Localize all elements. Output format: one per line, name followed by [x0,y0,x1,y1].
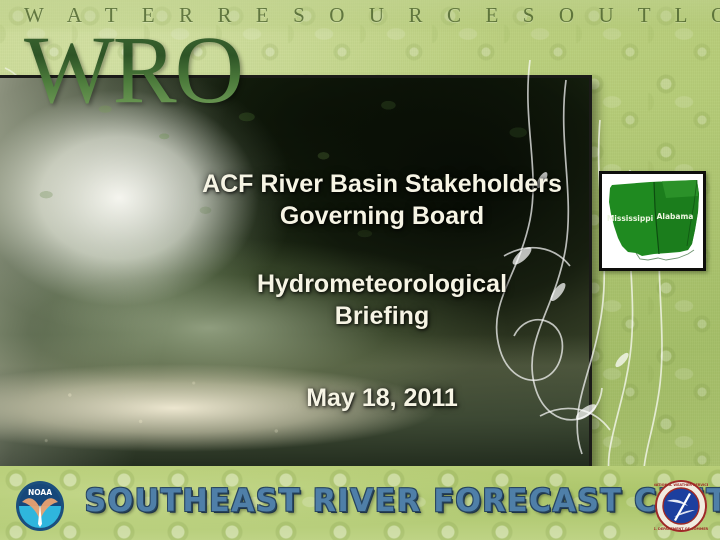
national-weather-service-logo-icon: NATIONAL WEATHER SERVICE U.S. DEPARTMENT… [654,479,708,533]
title-line-1: ACF River Basin Stakeholders [186,168,578,200]
southeast-states-map-thumbnail: Mississippi Alabama [599,171,706,271]
noaa-logo-icon: NOAA [14,480,66,532]
wro-wordmark-logo: WRO [24,22,242,118]
map-label-alabama: Alabama [657,212,694,221]
title-line-3: Hydrometeorological [186,268,578,300]
mississippi-alabama-map-icon: Mississippi Alabama [602,174,703,268]
title-line-4: Briefing [186,300,578,332]
nws-ring-text-top: NATIONAL WEATHER SERVICE [654,483,708,487]
noaa-wordmark: NOAA [28,488,52,497]
nws-ring-text-bottom: U.S. DEPARTMENT OF COMMERCE [654,527,708,531]
presentation-slide: W A T E R R E S O U R C E S O U T L O O … [0,0,720,540]
map-label-mississippi: Mississippi [607,214,653,223]
title-line-2: Governing Board [186,200,578,232]
banner-title: SOUTHEAST RIVER FORECAST CENTER [85,483,638,519]
slide-date: May 18, 2011 [186,382,578,414]
slide-title-block: ACF River Basin Stakeholders Governing B… [186,168,578,414]
